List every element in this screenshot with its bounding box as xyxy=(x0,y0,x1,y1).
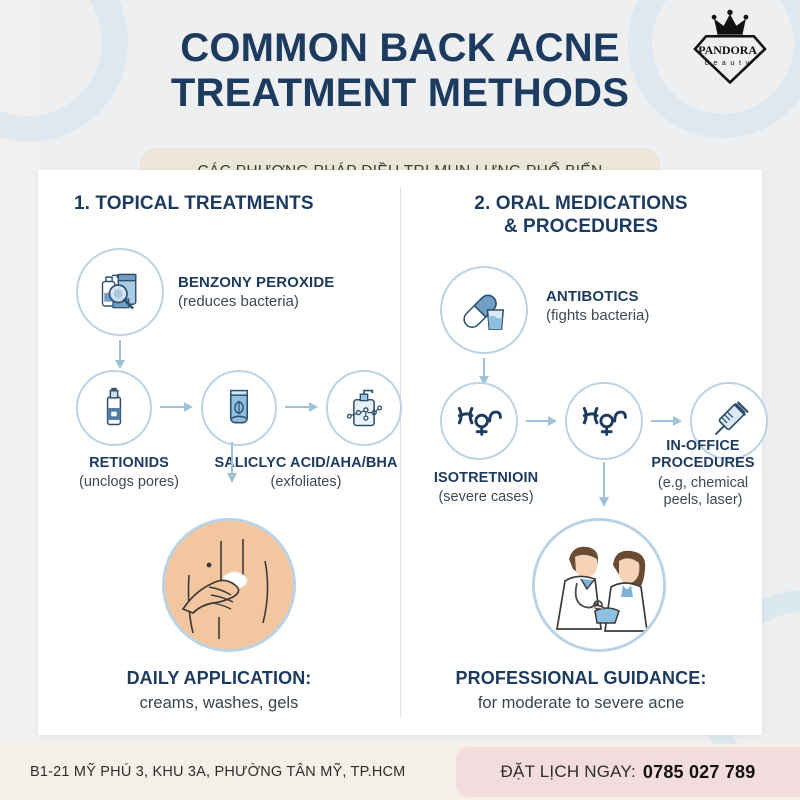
arrow-right-icon-right-1 xyxy=(526,413,558,429)
pill-capsule-water-glass-icon xyxy=(456,285,512,335)
arrow-right-icon-right-2 xyxy=(651,413,683,429)
column-title-oral-line2: & PROCEDURES xyxy=(504,216,658,237)
icon-circle-isotretinoin xyxy=(440,382,518,460)
step-title-in-office-line1: IN-OFFICE xyxy=(636,438,770,455)
arrow-down-icon-left xyxy=(112,340,128,370)
lead-title-benzoyl: BENZONY PEROXIDE xyxy=(178,274,334,291)
icon-circle-salicylic-acid xyxy=(201,370,277,446)
hormone-symbol-icon-2 xyxy=(579,401,629,441)
caption-sub-daily: creams, washes, gels xyxy=(38,694,400,713)
lead-sub-benzoyl: (reduces bacteria) xyxy=(178,293,334,310)
footer-cta-label: ĐẶT LỊCH NGAY: xyxy=(501,762,636,782)
photo-daily-application xyxy=(162,518,296,652)
column-title-topical: 1. TOPICAL TREATMENTS xyxy=(38,192,400,215)
molecule-pump-bottle-icon xyxy=(341,385,387,431)
hormone-symbol-icon-1 xyxy=(454,401,504,441)
pandora-beauty-logo: PANDORA b e a u t y xyxy=(682,6,778,92)
caption-sub-professional: for moderate to severe acne xyxy=(400,694,762,713)
lead-title-antibiotics: ANTIBOTICS xyxy=(546,288,649,305)
caption-title-professional: PROFESSIONAL GUIDANCE: xyxy=(400,668,762,689)
step-label-in-office: IN-OFFICE PROCEDURES (e.g, chemical peel… xyxy=(636,438,770,510)
footer-cta-phone[interactable]: 0785 027 789 xyxy=(643,762,756,783)
arrow-right-icon-left-1 xyxy=(160,399,194,415)
step-title-retinoids: RETIONIDS xyxy=(56,455,202,472)
arrow-down-icon-left-photo xyxy=(224,442,240,484)
content-card: 1. TOPICAL TREATMENTS BENZONY PEROXIDE (… xyxy=(38,170,762,735)
spray-bottle-icon xyxy=(92,386,136,430)
logo-primary-text: PANDORA xyxy=(698,43,757,57)
step-sub-retinoids: (unclogs pores) xyxy=(56,474,202,491)
footer-address: B1-21 MỸ PHÚ 3, KHU 3A, PHƯỜNG TÂN MỸ, T… xyxy=(0,764,405,780)
icon-circle-molecule-wash xyxy=(326,370,402,446)
logo-secondary-text: b e a u t y xyxy=(705,59,750,67)
step-sub-in-office-line2: peels, laser) xyxy=(636,492,770,509)
lead-label-antibiotics: ANTIBOTICS (fights bacteria) xyxy=(546,288,649,324)
icon-circle-benzoyl-peroxide xyxy=(76,248,164,336)
step-sub-isotretinoin: (severe cases) xyxy=(406,489,566,506)
column-topical-treatments: 1. TOPICAL TREATMENTS BENZONY PEROXIDE (… xyxy=(38,170,400,735)
column-title-oral: 2. ORAL MEDICATIONS & PROCEDURES xyxy=(400,192,762,238)
icon-circle-hormone-2 xyxy=(565,382,643,460)
icon-circle-antibiotics xyxy=(440,266,528,354)
step-sub-in-office-line1: (e.g, chemical xyxy=(636,475,770,492)
page-title: COMMON BACK ACNE TREATMENT METHODS xyxy=(0,26,800,116)
page-title-line1: COMMON BACK ACNE xyxy=(180,26,619,70)
cleanser-bottles-magnifier-icon xyxy=(92,264,148,320)
arrow-right-icon-left-2 xyxy=(285,399,319,415)
page-header: COMMON BACK ACNE TREATMENT METHODS PANDO… xyxy=(0,0,800,116)
step-label-isotretinoin: ISOTRETNIOIN (severe cases) xyxy=(406,470,566,507)
caption-title-daily: DAILY APPLICATION: xyxy=(38,668,400,689)
step-title-in-office-line2: PROCEDURES xyxy=(636,455,770,472)
caption-daily-application: DAILY APPLICATION: creams, washes, gels xyxy=(38,668,400,713)
two-doctors-consulting-photo xyxy=(535,521,666,652)
step-title-isotretinoin: ISOTRETNIOIN xyxy=(406,470,566,487)
step-label-retinoids: RETIONIDS (unclogs pores) xyxy=(56,455,202,492)
leaf-cream-tube-icon xyxy=(217,385,261,431)
column-title-oral-line1: 2. ORAL MEDICATIONS xyxy=(474,193,687,214)
column-oral-medications: 2. ORAL MEDICATIONS & PROCEDURES ANTIBOT… xyxy=(400,170,762,735)
page-title-line2: TREATMENT METHODS xyxy=(90,71,710,116)
lead-label-benzoyl-peroxide: BENZONY PEROXIDE (reduces bacteria) xyxy=(178,274,334,310)
footer-bar: B1-21 MỸ PHÚ 3, KHU 3A, PHƯỜNG TÂN MỸ, T… xyxy=(0,744,800,800)
footer-cta-block[interactable]: ĐẶT LỊCH NGAY: 0785 027 789 xyxy=(456,747,800,797)
lead-sub-antibiotics: (fights bacteria) xyxy=(546,307,649,324)
photo-professional-guidance xyxy=(532,518,666,652)
arrow-down-icon-right-photo xyxy=(596,462,612,508)
hand-applying-cream-to-back-photo xyxy=(165,521,296,652)
icon-circle-retinoid xyxy=(76,370,152,446)
caption-professional-guidance: PROFESSIONAL GUIDANCE: for moderate to s… xyxy=(400,668,762,713)
